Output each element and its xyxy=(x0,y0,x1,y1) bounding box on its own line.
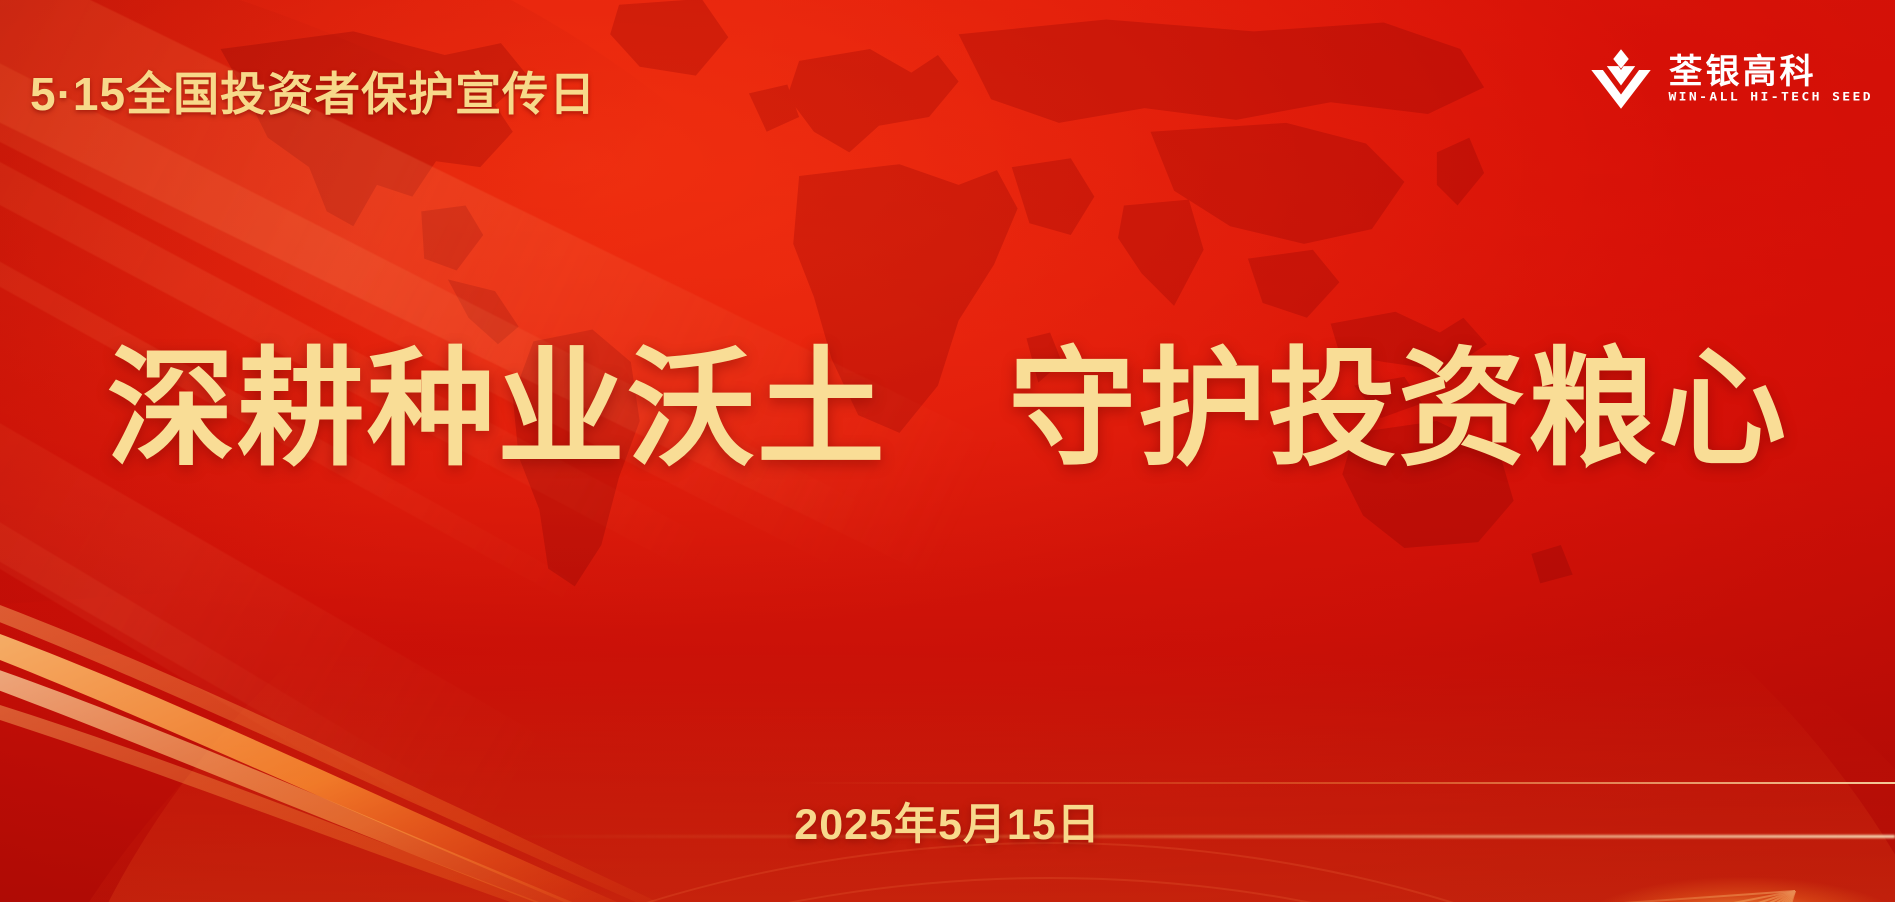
logo-name-cn: 荃银高科 xyxy=(1668,55,1873,89)
company-logo: 荃银高科 WIN-ALL HI-TECH SEED xyxy=(1588,48,1873,110)
campaign-title: 5·15全国投资者保护宣传日 xyxy=(30,58,596,124)
event-date: 2025年5月15日 xyxy=(0,790,1895,852)
win-all-chevron-mark-icon xyxy=(1588,48,1654,110)
horizon-glow-line xyxy=(795,782,1895,784)
main-headline: 深耕种业沃土 守护投资粮心 xyxy=(0,340,1895,481)
headline-part-1: 深耕种业沃土 xyxy=(107,338,887,481)
headline-part-2: 守护投资粮心 xyxy=(1008,338,1788,481)
logo-name-en: WIN-ALL HI-TECH SEED xyxy=(1668,91,1873,103)
poster-canvas: 5·15全国投资者保护宣传日 荃银高科 WIN-ALL HI-TECH SEED… xyxy=(0,0,1895,902)
